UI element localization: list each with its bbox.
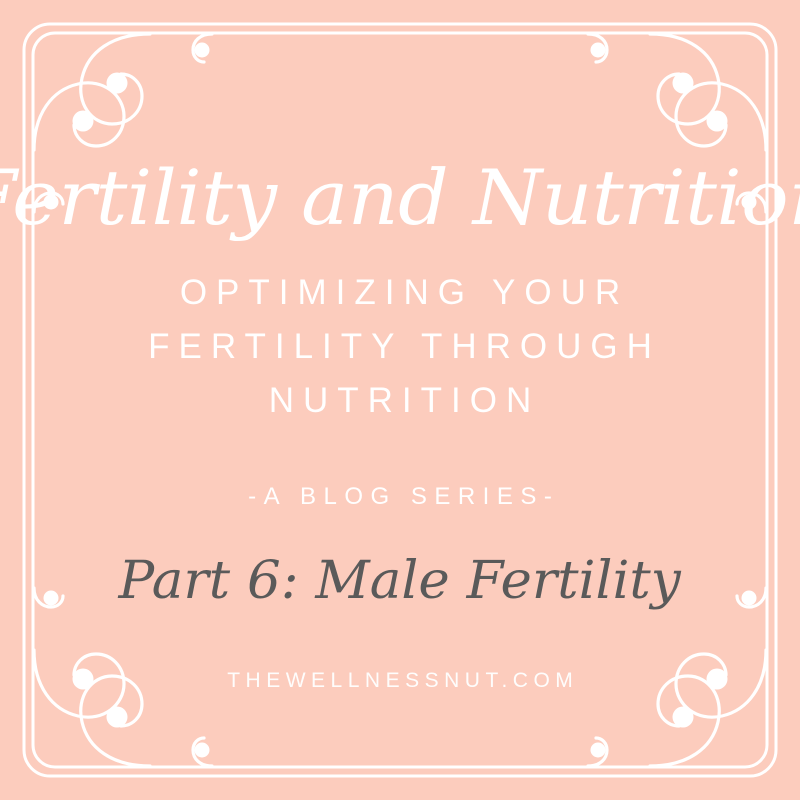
- headline-line-2: FERTILITY THROUGH: [139, 320, 661, 374]
- poster-canvas: Fertility and Nutrition OPTIMIZING YOUR …: [0, 0, 800, 800]
- headline-line-1: OPTIMIZING YOUR: [171, 266, 629, 320]
- page-title: Fertility and Nutrition: [0, 160, 800, 236]
- headline-line-3: NUTRITION: [260, 374, 541, 428]
- part-label: Part 6: Male Fertility: [119, 555, 681, 607]
- poster-content: Fertility and Nutrition OPTIMIZING YOUR …: [0, 0, 800, 800]
- series-label: -A BLOG SERIES-: [241, 483, 560, 511]
- site-url-label: THEWELLNESSNUT.COM: [222, 669, 579, 693]
- headline-block: OPTIMIZING YOUR FERTILITY THROUGH NUTRIT…: [139, 266, 661, 428]
